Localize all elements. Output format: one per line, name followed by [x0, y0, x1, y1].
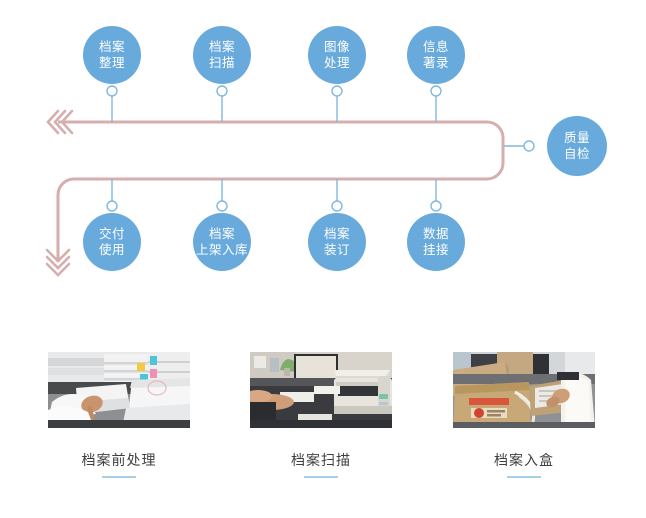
process-flow-diagram: 档案 整理 档案 扫描 图像 处理 信息 著录 质量 自检 交付 使用 档案 上…	[0, 0, 646, 310]
flow-node-label-line2: 上架入库	[196, 242, 248, 259]
flow-node-label-line1: 交付	[99, 226, 125, 243]
flow-node-bottom-2[interactable]: 档案 上架入库	[193, 213, 251, 271]
photo-document-stacks	[48, 352, 190, 428]
bottom-connectors	[107, 179, 441, 211]
gallery-caption-3: 档案入盒	[453, 450, 595, 478]
caption-underline	[304, 476, 338, 478]
flow-node-top-2[interactable]: 档案 扫描	[193, 26, 251, 84]
flow-node-label-line2: 使用	[99, 242, 125, 259]
flow-node-label-line1: 信息	[423, 39, 449, 56]
flow-node-label-line1: 档案	[99, 39, 125, 56]
flow-node-bottom-4[interactable]: 数据 挂接	[407, 213, 465, 271]
caption-underline	[102, 476, 136, 478]
gallery-item-1[interactable]: 档案前处理	[48, 352, 190, 478]
flow-node-label-line1: 数据	[423, 226, 449, 243]
photo-gallery: 档案前处理	[0, 352, 646, 512]
flow-node-label-line2: 整理	[99, 55, 125, 72]
photo-archive-boxes	[453, 352, 595, 428]
flow-node-label-line1: 档案	[209, 39, 235, 56]
flow-node-label-line2: 扫描	[209, 55, 235, 72]
flow-node-label-line2: 处理	[324, 55, 350, 72]
flow-node-label-line2: 著录	[423, 55, 449, 72]
photo-document-scanner	[250, 352, 392, 428]
top-connectors	[107, 86, 441, 122]
gallery-caption-text: 档案前处理	[82, 452, 157, 468]
gallery-caption-1: 档案前处理	[48, 450, 190, 478]
flow-node-label-line1: 档案	[209, 226, 235, 243]
caption-underline	[507, 476, 541, 478]
flow-node-top-4[interactable]: 信息 著录	[407, 26, 465, 84]
gallery-item-2[interactable]: 档案扫描	[250, 352, 392, 478]
flow-node-bottom-3[interactable]: 档案 装订	[308, 213, 366, 271]
flow-node-label-line2: 挂接	[423, 242, 449, 259]
gallery-caption-text: 档案入盒	[494, 452, 554, 468]
flow-node-top-3[interactable]: 图像 处理	[308, 26, 366, 84]
flow-node-end-quality-check[interactable]: 质量 自检	[547, 116, 607, 176]
flow-node-top-1[interactable]: 档案 整理	[83, 26, 141, 84]
gallery-item-3[interactable]: 档案入盒	[453, 352, 595, 478]
end-node-connector	[504, 141, 534, 151]
gallery-caption-2: 档案扫描	[250, 450, 392, 478]
flow-node-label-line2: 自检	[564, 146, 590, 163]
flow-node-label-line1: 图像	[324, 39, 350, 56]
gallery-caption-text: 档案扫描	[291, 452, 351, 468]
flow-node-label-line1: 档案	[324, 226, 350, 243]
flow-node-label-line2: 装订	[324, 242, 350, 259]
flow-node-label-line1: 质量	[564, 130, 590, 147]
flow-node-bottom-1[interactable]: 交付 使用	[83, 213, 141, 271]
